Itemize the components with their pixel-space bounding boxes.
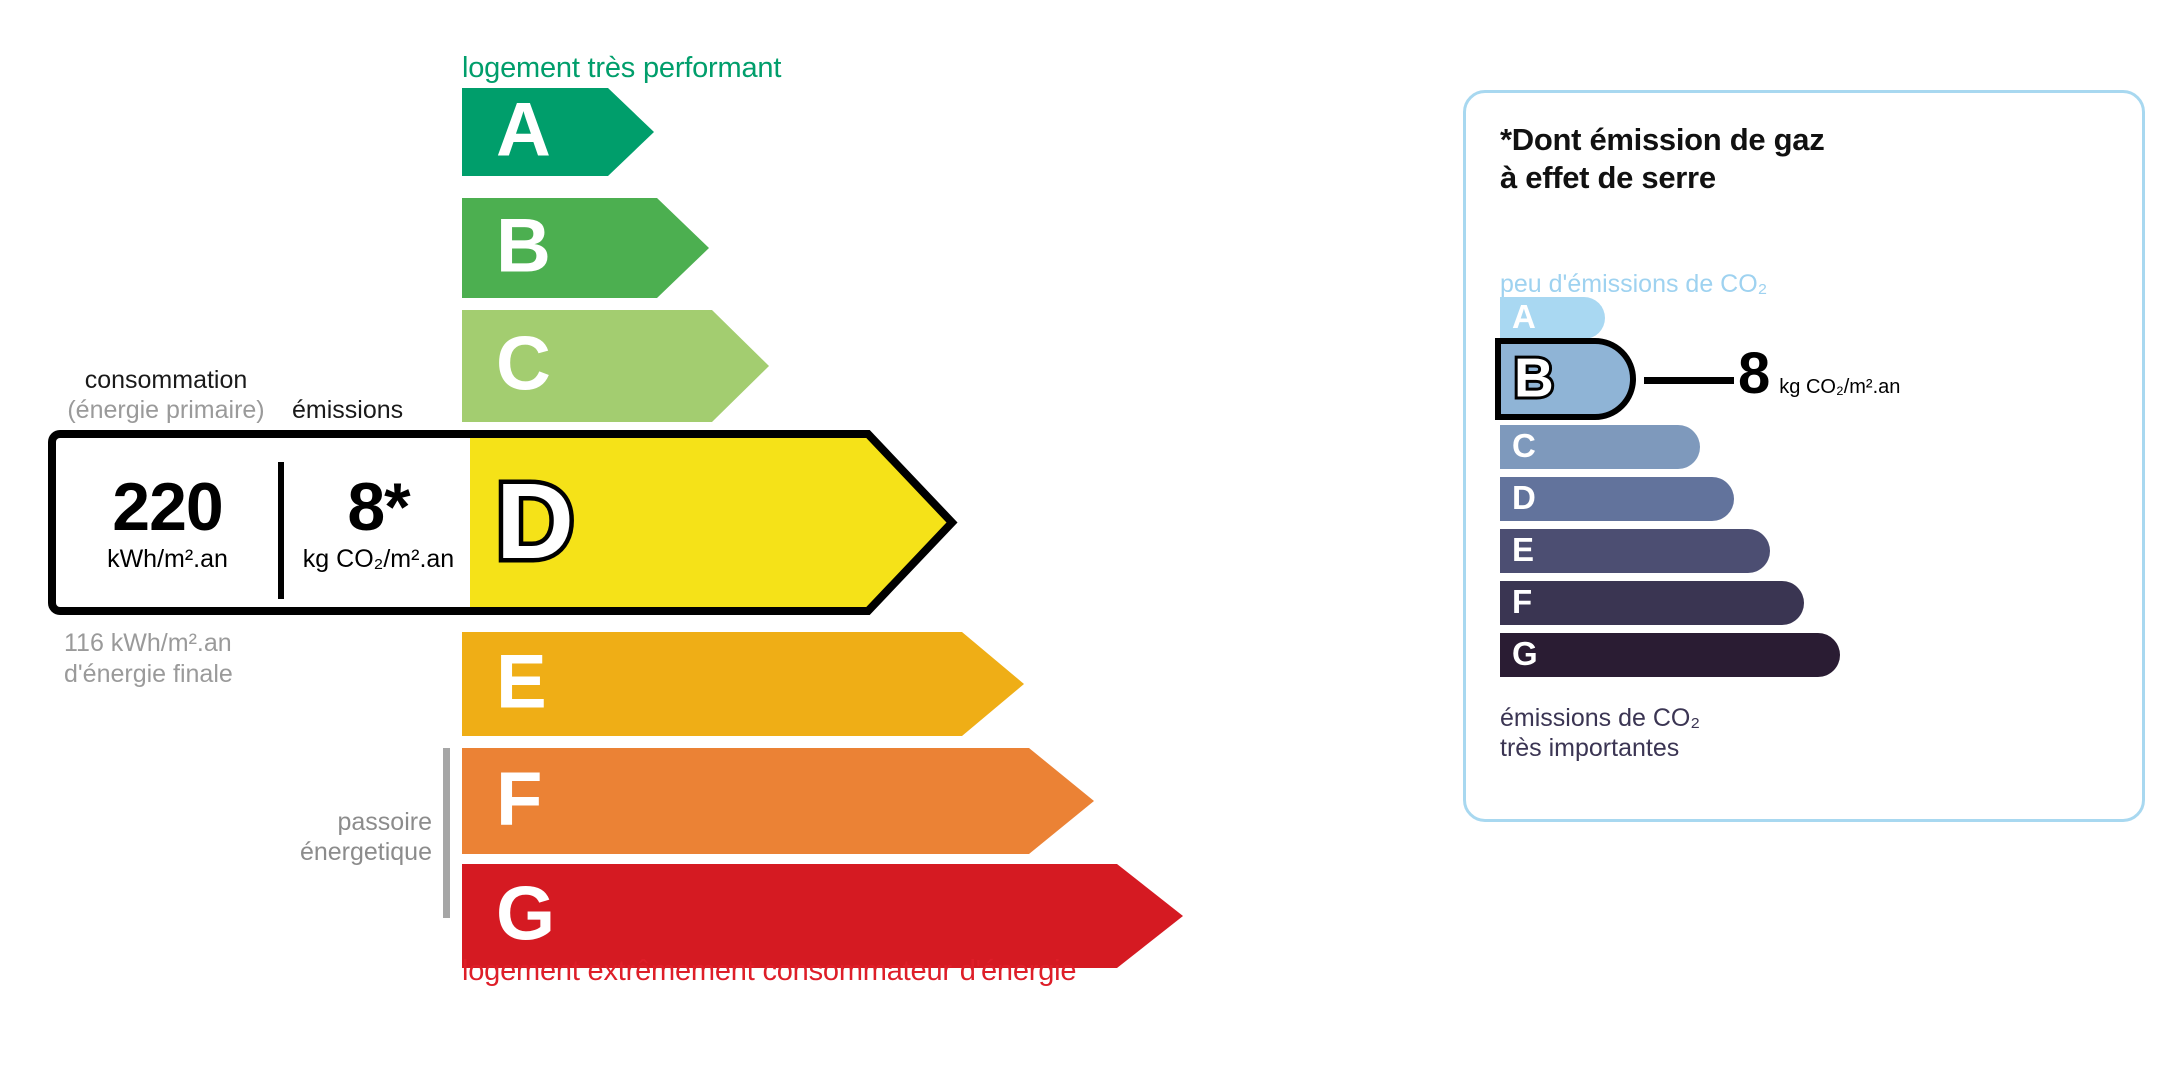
energy-band-d: D <box>462 430 962 615</box>
co2-selected-letter: B <box>1514 350 1554 405</box>
energy-top-caption: logement très performant <box>462 52 781 85</box>
energy-band-letter: B <box>496 208 551 284</box>
consumption-label-sub: (énergie primaire) <box>48 396 284 426</box>
co2-band-c: C <box>1500 425 1700 469</box>
co2-value-unit: kg CO₂/m².an <box>1779 376 1900 399</box>
emissions-label: émissions <box>292 396 403 425</box>
emission-value-cell: 8* kg CO₂/m².an <box>279 438 478 607</box>
co2-bottom-caption: émissions de CO₂ très importantes <box>1500 703 1700 763</box>
co2-band-f: F <box>1500 581 1804 625</box>
co2-leader-line <box>1644 377 1734 384</box>
final-energy-line1: 116 kWh/m².an <box>64 628 233 659</box>
co2-value-number: 8 <box>1738 345 1770 403</box>
value-box: 220 kWh/m².an 8* kg CO₂/m².an <box>48 430 470 615</box>
energy-band-g: G <box>462 864 1183 968</box>
energy-band-letter: C <box>496 326 551 402</box>
consumption-label-title: consommation <box>48 366 284 396</box>
energy-band-letter: F <box>496 761 542 837</box>
passoire-bracket <box>443 748 450 918</box>
final-energy-label: 116 kWh/m².an d'énergie finale <box>64 628 233 689</box>
energy-band-letter: E <box>496 644 547 720</box>
energy-band-b: B <box>462 198 709 298</box>
co2-band-letter: D <box>1512 481 1536 514</box>
co2-band-letter: A <box>1512 300 1536 333</box>
co2-band-letter: E <box>1512 533 1534 566</box>
value-divider <box>278 462 284 599</box>
passoire-line1: passoire <box>250 807 432 837</box>
emission-unit: kg CO₂/m².an <box>303 547 454 572</box>
passoire-line2: énergetique <box>250 837 432 867</box>
energy-performance-panel: logement très performant ABCEFG consomma… <box>0 0 1420 1079</box>
energy-band-c: C <box>462 310 769 422</box>
co2-selected-grade: B <box>1495 338 1636 420</box>
co2-band-letter: F <box>1512 585 1532 618</box>
selected-grade-row: 220 kWh/m².an 8* kg CO₂/m².an D <box>48 430 960 615</box>
co2-band-d: D <box>1500 477 1734 521</box>
co2-band-g: G <box>1500 633 1840 677</box>
co2-band-a: A <box>1500 297 1605 339</box>
energy-band-letter: G <box>496 876 555 952</box>
energy-band-e: E <box>462 632 1024 736</box>
co2-title-line2: à effet de serre <box>1500 159 1824 197</box>
energy-band-letter: A <box>496 92 551 168</box>
co2-bottom-caption-line1: émissions de CO₂ <box>1500 703 1700 733</box>
co2-panel-title: *Dont émission de gaz à effet de serre <box>1500 121 1824 197</box>
co2-band-letter: G <box>1512 637 1538 670</box>
energy-band-letter: D <box>496 466 574 574</box>
co2-emissions-panel: *Dont émission de gaz à effet de serre p… <box>1463 90 2145 822</box>
passoire-energetique-label: passoire énergetique <box>250 807 432 867</box>
energy-band-a: A <box>462 88 654 176</box>
energy-bottom-caption: logement extrêmement consommateur d'éner… <box>462 955 1076 988</box>
co2-band-letter: C <box>1512 429 1536 462</box>
co2-title-line1: *Dont émission de gaz <box>1500 121 1824 159</box>
co2-bottom-caption-line2: très importantes <box>1500 733 1700 763</box>
co2-band-e: E <box>1500 529 1770 573</box>
consumption-value-cell: 220 kWh/m².an <box>56 438 279 607</box>
co2-value-group: 8 kg CO₂/m².an <box>1738 345 1900 403</box>
dpe-diagram: logement très performant ABCEFG consomma… <box>0 0 2170 1079</box>
consumption-label: consommation (énergie primaire) <box>48 366 284 425</box>
consumption-value: 220 <box>112 473 222 541</box>
emission-value: 8* <box>347 473 409 541</box>
energy-band-f: F <box>462 748 1094 854</box>
co2-top-caption: peu d'émissions de CO₂ <box>1500 270 1767 299</box>
consumption-unit: kWh/m².an <box>107 547 228 572</box>
final-energy-line2: d'énergie finale <box>64 659 233 690</box>
